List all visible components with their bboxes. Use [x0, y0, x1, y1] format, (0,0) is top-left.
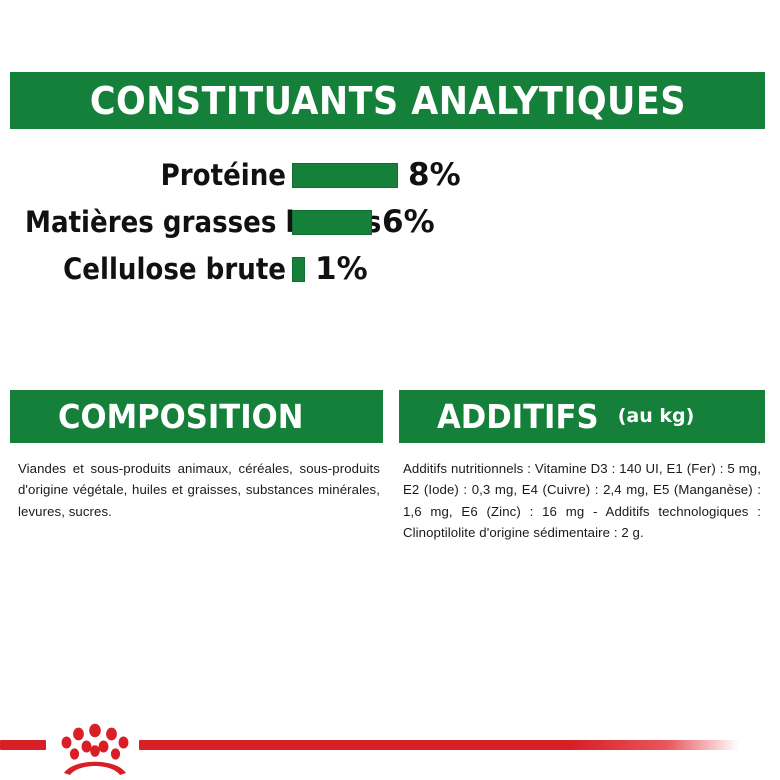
analytical-constituents-title: CONSTITUANTS ANALYTIQUES: [90, 82, 686, 120]
constituent-label-matieres-grasses-brutes: Matières grasses brutes: [25, 208, 286, 237]
brand-rule-right: [139, 740, 739, 750]
additifs-banner: ADDITIFS (au kg): [399, 390, 765, 443]
constituent-value-proteine: 8%: [408, 160, 461, 191]
additifs-title: ADDITIFS: [437, 400, 599, 433]
analytical-constituents-banner: CONSTITUANTS ANALYTIQUES: [10, 72, 765, 129]
constituent-label-cellulose-brute: Cellulose brute: [25, 255, 286, 284]
additifs-subtitle: (au kg): [618, 407, 695, 426]
constituent-label-proteine: Protéine: [25, 161, 286, 190]
brand-rule-left: [0, 740, 46, 750]
additifs-body-text: Additifs nutritionnels : Vitamine D3 : 1…: [399, 443, 765, 544]
constituent-value-cellulose-brute: 1%: [315, 254, 368, 285]
composition-panel: COMPOSITION Viandes et sous-produits ani…: [10, 390, 383, 522]
analytical-constituents-chart: Protéine 8% Matières grasses brutes 6% C…: [0, 152, 780, 293]
constituent-value-matieres-grasses-brutes: 6%: [382, 207, 435, 238]
constituent-bar-cellulose-brute: [292, 257, 305, 282]
constituent-row: Cellulose brute 1%: [0, 246, 780, 293]
constituent-row: Matières grasses brutes 6%: [0, 199, 780, 246]
constituent-row: Protéine 8%: [0, 152, 780, 199]
royal-canin-crown-icon: [56, 720, 134, 778]
footer-brand-bar: [0, 718, 780, 780]
constituent-bar-matieres-grasses-brutes: [292, 210, 372, 235]
additifs-panel: ADDITIFS (au kg) Additifs nutritionnels …: [399, 390, 765, 544]
constituent-bar-proteine: [292, 163, 398, 188]
composition-title: COMPOSITION: [58, 400, 303, 433]
composition-banner: COMPOSITION: [10, 390, 383, 443]
composition-body-text: Viandes et sous-produits animaux, céréal…: [10, 443, 383, 522]
